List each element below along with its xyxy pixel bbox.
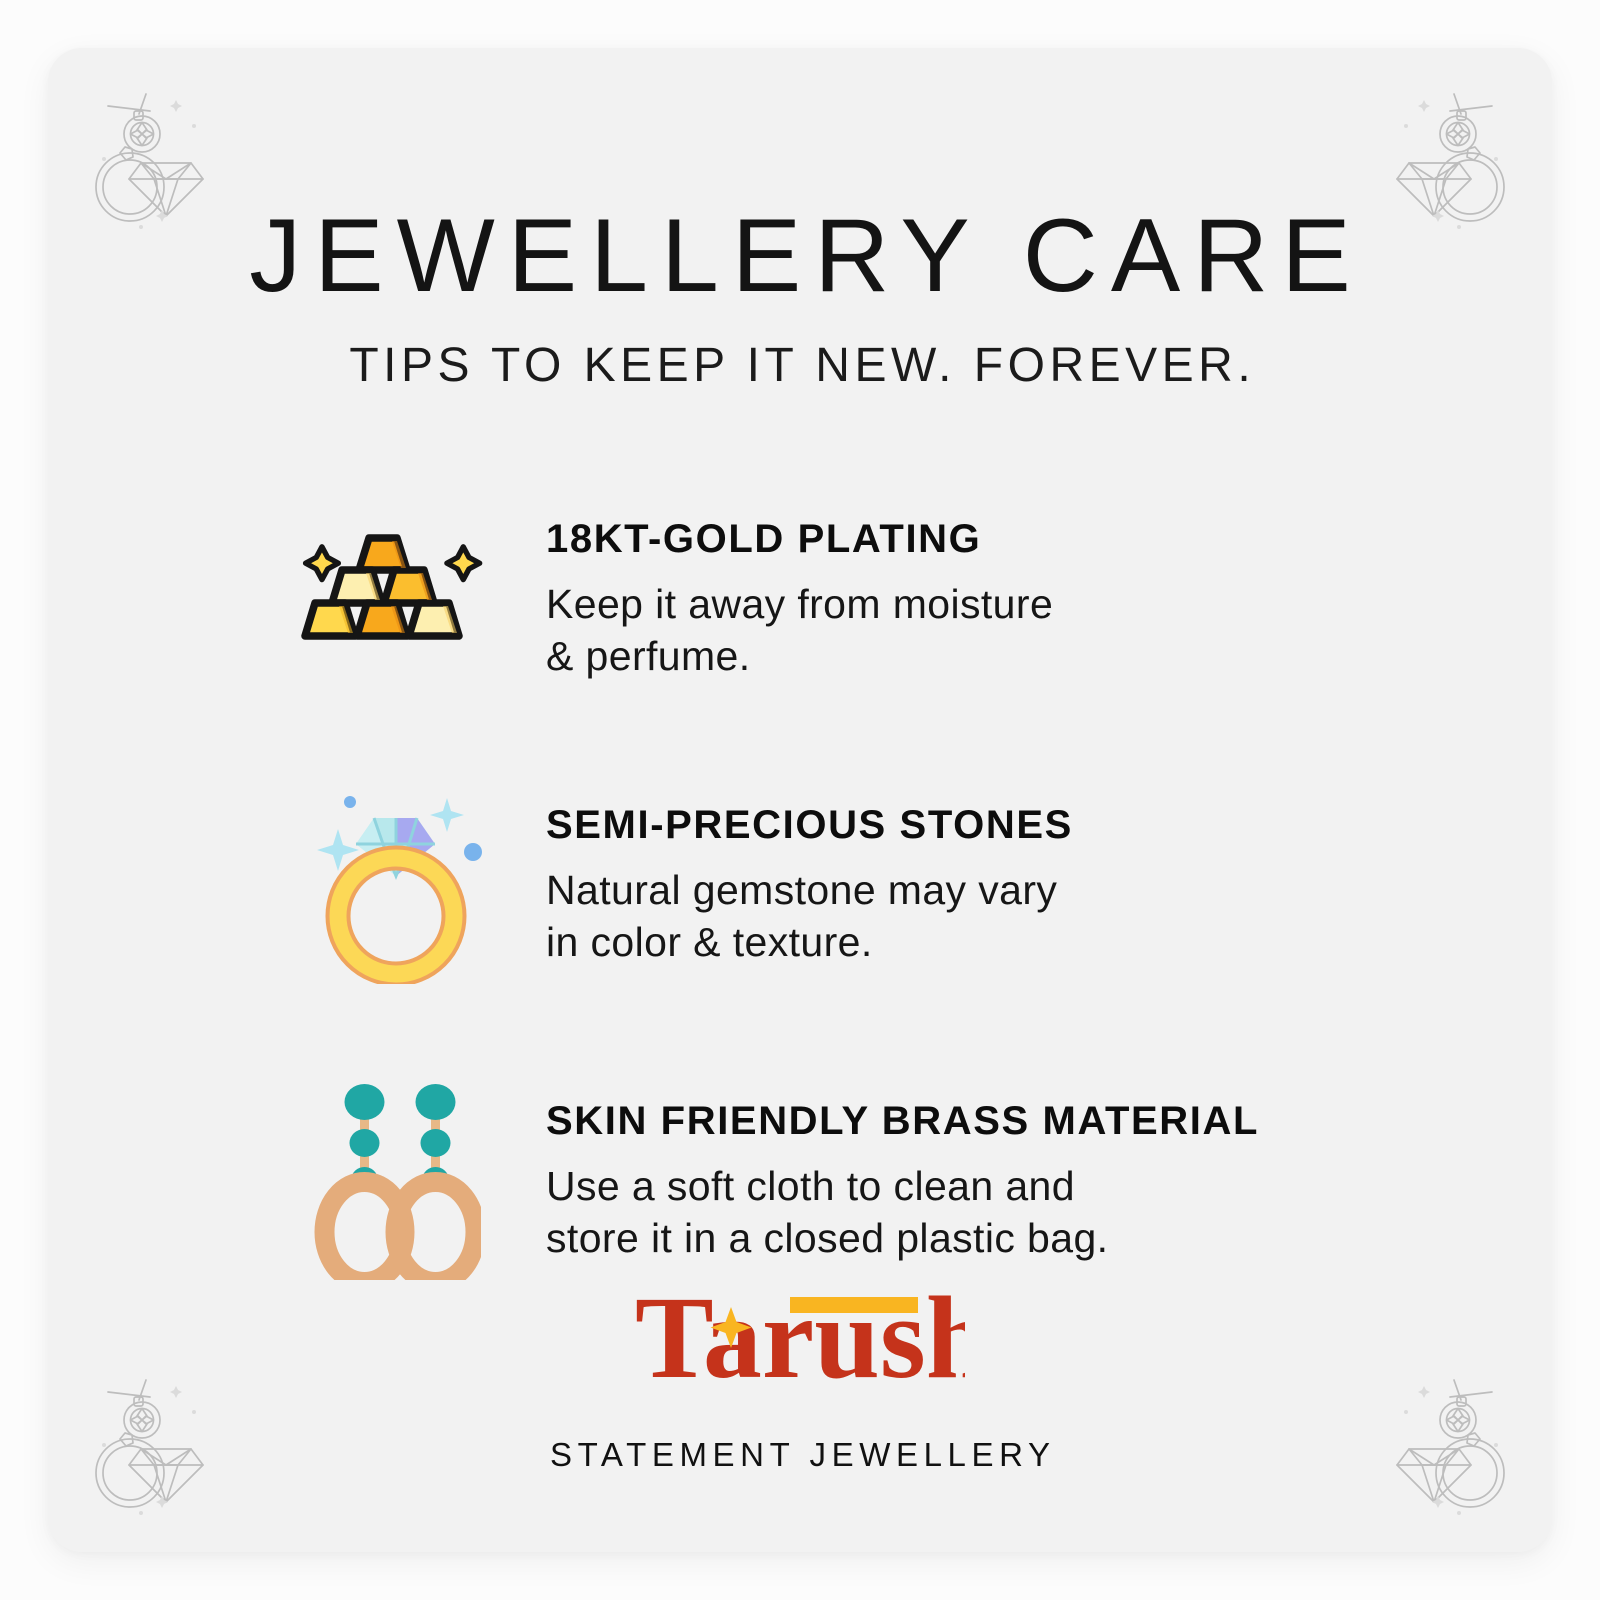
header: JEWELLERY CARE TIPS TO KEEP IT NEW. FORE… bbox=[48, 198, 1552, 393]
diamond-ring-icon bbox=[296, 789, 496, 979]
brand-logo: Tarush bbox=[635, 1277, 965, 1397]
care-tip-item: 18KT-GOLD PLATING Keep it away from mois… bbox=[48, 503, 1552, 683]
care-tip-body-line: Natural gemstone may vary bbox=[546, 864, 1073, 916]
care-tip-heading: SEMI-PRECIOUS STONES bbox=[546, 803, 1073, 848]
page-subtitle: TIPS TO KEEP IT NEW. FOREVER. bbox=[48, 338, 1552, 393]
care-tip-item: SEMI-PRECIOUS STONES Natural gemstone ma… bbox=[48, 789, 1552, 979]
care-tip-body-line: Keep it away from moisture bbox=[546, 578, 1053, 630]
care-tip-heading: SKIN FRIENDLY BRASS MATERIAL bbox=[546, 1099, 1259, 1144]
care-tip-body-line: in color & texture. bbox=[546, 916, 1073, 968]
footer: Tarush STATEMENT JEWELLERY bbox=[48, 1277, 1552, 1474]
info-card: JEWELLERY CARE TIPS TO KEEP IT NEW. FORE… bbox=[48, 48, 1552, 1552]
care-tip-heading: 18KT-GOLD PLATING bbox=[546, 517, 1053, 562]
gold-bars-icon bbox=[296, 503, 496, 653]
care-tip-body: Natural gemstone may vary in color & tex… bbox=[546, 864, 1073, 969]
care-tip-body-line: Use a soft cloth to clean and bbox=[546, 1160, 1259, 1212]
care-tip-body-line: & perfume. bbox=[546, 630, 1053, 682]
logo-wordmark: Tarush bbox=[635, 1277, 965, 1397]
drop-earrings-icon bbox=[296, 1085, 496, 1275]
care-tip-body: Keep it away from moisture & perfume. bbox=[546, 578, 1053, 683]
care-tip-text: 18KT-GOLD PLATING Keep it away from mois… bbox=[496, 503, 1053, 683]
care-tips-list: 18KT-GOLD PLATING Keep it away from mois… bbox=[48, 503, 1552, 1275]
page-root: JEWELLERY CARE TIPS TO KEEP IT NEW. FORE… bbox=[0, 0, 1600, 1600]
care-tip-body-line: store it in a closed plastic bag. bbox=[546, 1212, 1259, 1264]
page-title: JEWELLERY CARE bbox=[48, 198, 1552, 314]
brand-tagline: STATEMENT JEWELLERY bbox=[48, 1436, 1552, 1474]
care-tip-body: Use a soft cloth to clean and store it i… bbox=[546, 1160, 1259, 1265]
care-tip-text: SEMI-PRECIOUS STONES Natural gemstone ma… bbox=[496, 789, 1073, 969]
care-tip-item: SKIN FRIENDLY BRASS MATERIAL Use a soft … bbox=[48, 1085, 1552, 1275]
care-tip-text: SKIN FRIENDLY BRASS MATERIAL Use a soft … bbox=[496, 1085, 1259, 1265]
